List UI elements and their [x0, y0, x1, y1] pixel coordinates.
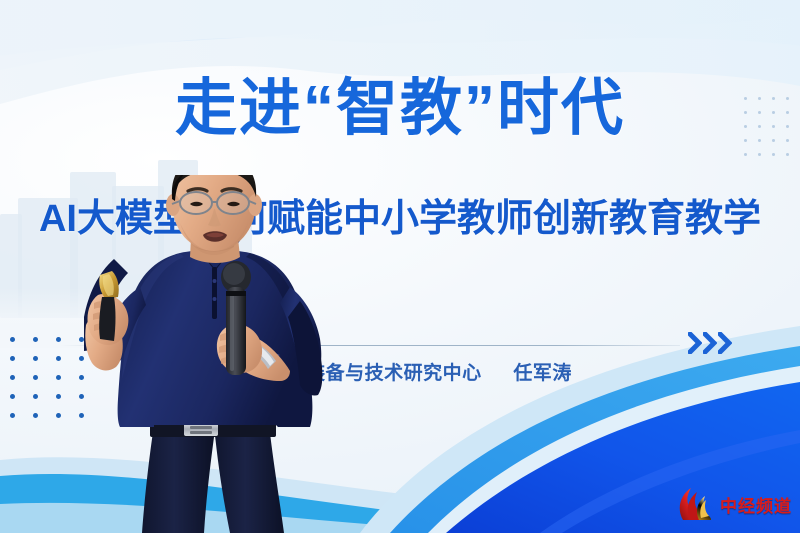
flame-channel-logo-icon: [677, 484, 717, 524]
channel-watermark: 中经频道: [677, 483, 792, 525]
byline-speaker-name: 任军涛: [513, 363, 572, 384]
triple-chevron-right-icon: [688, 332, 732, 354]
stage-photo-scene: 走进“智教”时代 AI大模型如何赋能中小学教师创新教育教学 州市教育装备与技术研…: [0, 0, 800, 533]
slide-title: 走进“智教”时代: [0, 78, 800, 140]
male-presenter-figure: [84, 175, 364, 533]
watermark-text: 中经频道: [720, 492, 792, 517]
